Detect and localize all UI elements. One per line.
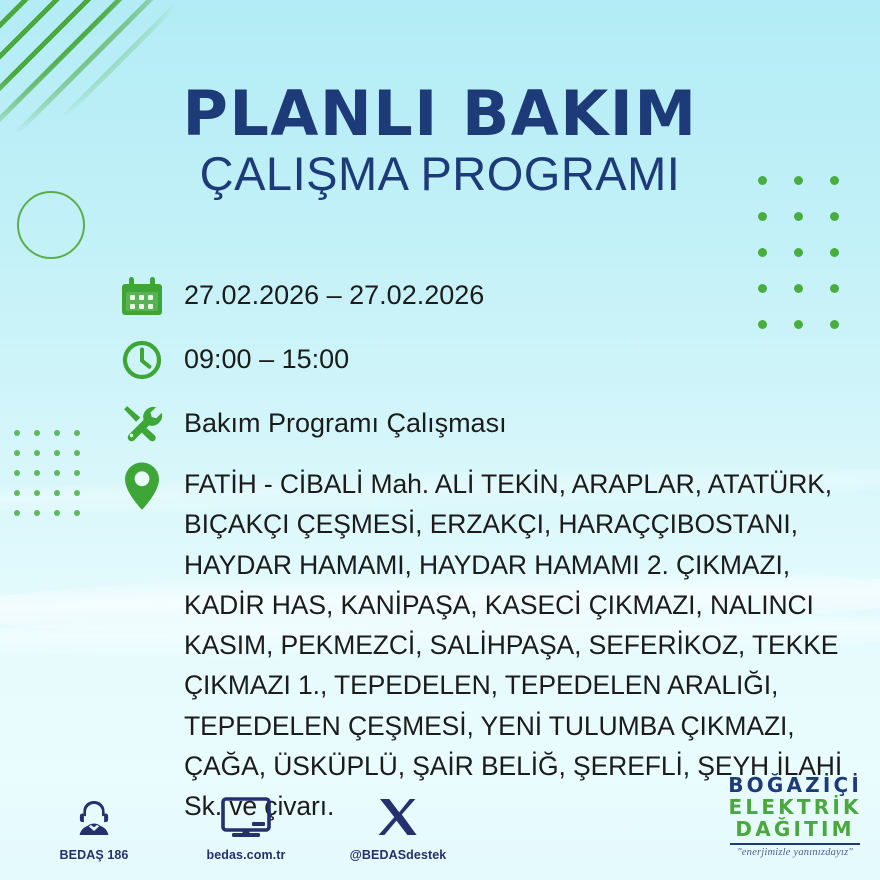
footer-item-phone[interactable]: BEDAŞ 186 <box>40 795 148 862</box>
info-row-date: 27.02.2026 – 27.02.2026 <box>118 272 868 320</box>
decor-dot <box>74 490 80 496</box>
decor-dot <box>14 450 20 456</box>
decor-dot <box>758 212 767 221</box>
brand-tagline: "enerjimizle yanınızdayız" <box>728 847 862 858</box>
decor-dot <box>34 510 40 516</box>
page-subtitle: ÇALIŞMA PROGRAMI <box>0 149 880 198</box>
decor-dot <box>794 248 803 257</box>
decor-dot <box>14 430 20 436</box>
decor-dot <box>830 248 839 257</box>
brand-logo: BOĞAZİÇİ ELEKTRİK DAĞITIM "enerjimizle y… <box>728 775 862 858</box>
decor-dot <box>54 430 60 436</box>
decor-dot <box>758 248 767 257</box>
decor-dot <box>34 470 40 476</box>
x-twitter-icon <box>344 795 452 841</box>
footer-label-phone: BEDAŞ 186 <box>40 848 148 862</box>
decor-dot <box>14 490 20 496</box>
footer-item-social[interactable]: @BEDASdestek <box>344 795 452 862</box>
info-row-address: FATİH - CİBALİ Mah. ALİ TEKİN, ARAPLAR, … <box>118 462 868 826</box>
decor-dot <box>74 430 80 436</box>
poster-header: PLANLI BAKIM ÇALIŞMA PROGRAMI <box>0 82 880 199</box>
info-row-work-type: Bakım Programı Çalışması <box>118 400 868 448</box>
brand-divider <box>730 843 860 845</box>
decor-dot <box>14 470 20 476</box>
tools-icon <box>118 400 166 448</box>
decor-dot <box>74 510 80 516</box>
info-row-time: 09:00 – 15:00 <box>118 336 868 384</box>
info-list: 27.02.2026 – 27.02.2026 09:00 – 15:00 <box>118 272 868 844</box>
date-range-text: 27.02.2026 – 27.02.2026 <box>184 272 484 313</box>
decor-dot <box>14 510 20 516</box>
decor-dot <box>74 470 80 476</box>
footer-label-social: @BEDASdestek <box>344 848 452 862</box>
decor-dot <box>830 212 839 221</box>
calendar-icon <box>118 272 166 320</box>
footer-contacts: BEDAŞ 186 bedas.com.tr @BEDASdestek <box>40 795 452 862</box>
brand-line-dagitim: DAĞITIM <box>728 819 862 841</box>
brand-line-bogazici: BOĞAZİÇİ <box>728 775 862 797</box>
decor-dot <box>34 490 40 496</box>
decor-dot <box>54 490 60 496</box>
decor-dot <box>74 450 80 456</box>
decor-dot <box>54 470 60 476</box>
footer-item-website[interactable]: bedas.com.tr <box>192 795 300 862</box>
address-text: FATİH - CİBALİ Mah. ALİ TEKİN, ARAPLAR, … <box>184 462 868 826</box>
location-pin-icon <box>118 462 166 510</box>
call-center-agent-icon <box>40 795 148 841</box>
work-type-text: Bakım Programı Çalışması <box>184 400 507 441</box>
decor-dot <box>34 430 40 436</box>
brand-line-elektrik: ELEKTRİK <box>728 797 862 819</box>
footer-label-website: bedas.com.tr <box>192 848 300 862</box>
page-title: PLANLI BAKIM <box>0 82 880 145</box>
decor-dot <box>54 450 60 456</box>
decor-dot <box>54 510 60 516</box>
poster-canvas: PLANLI BAKIM ÇALIŞMA PROGRAMI <box>0 0 880 880</box>
circle-outline-decoration <box>17 191 85 259</box>
decor-dot <box>34 450 40 456</box>
monitor-icon <box>192 795 300 841</box>
time-range-text: 09:00 – 15:00 <box>184 336 349 377</box>
clock-icon <box>118 336 166 384</box>
decor-dot <box>794 212 803 221</box>
